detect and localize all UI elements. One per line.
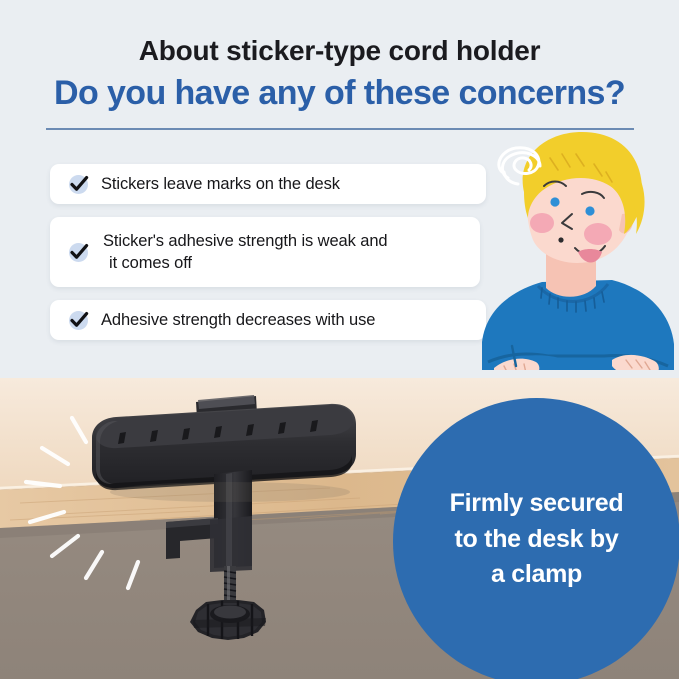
callout-text: Firmly secured to the desk by a clamp xyxy=(450,486,624,597)
list-item-label: Sticker's adhesive strength is weak and … xyxy=(101,230,387,275)
check-icon xyxy=(68,241,90,263)
callout-line-1: Firmly secured xyxy=(450,486,624,522)
confusion-swirl-icon xyxy=(488,138,554,201)
list-item: Adhesive strength decreases with use xyxy=(50,300,486,340)
callout-badge: Firmly secured to the desk by a clamp xyxy=(393,398,679,679)
infographic-root: About sticker-type cord holder Do you ha… xyxy=(0,0,679,679)
list-item: Stickers leave marks on the desk xyxy=(50,164,486,204)
list-item-label: Stickers leave marks on the desk xyxy=(101,173,340,195)
page-subtitle: About sticker-type cord holder xyxy=(0,36,679,67)
list-item-label-line1: Sticker's adhesive strength is weak and xyxy=(103,232,387,250)
check-icon xyxy=(68,309,90,331)
concerns-list: Stickers leave marks on the desk Sticker… xyxy=(50,164,486,353)
header: About sticker-type cord holder Do you ha… xyxy=(0,0,679,112)
callout-line-2: to the desk by xyxy=(450,522,624,558)
callout-line-3: a clamp xyxy=(450,557,624,593)
list-item-label: Adhesive strength decreases with use xyxy=(101,309,375,331)
page-title: Do you have any of these concerns? xyxy=(0,75,679,112)
list-item-label-line2: it comes off xyxy=(103,252,387,274)
list-item: Sticker's adhesive strength is weak and … xyxy=(50,217,480,287)
character-illustration xyxy=(472,130,679,380)
check-icon xyxy=(68,173,90,195)
